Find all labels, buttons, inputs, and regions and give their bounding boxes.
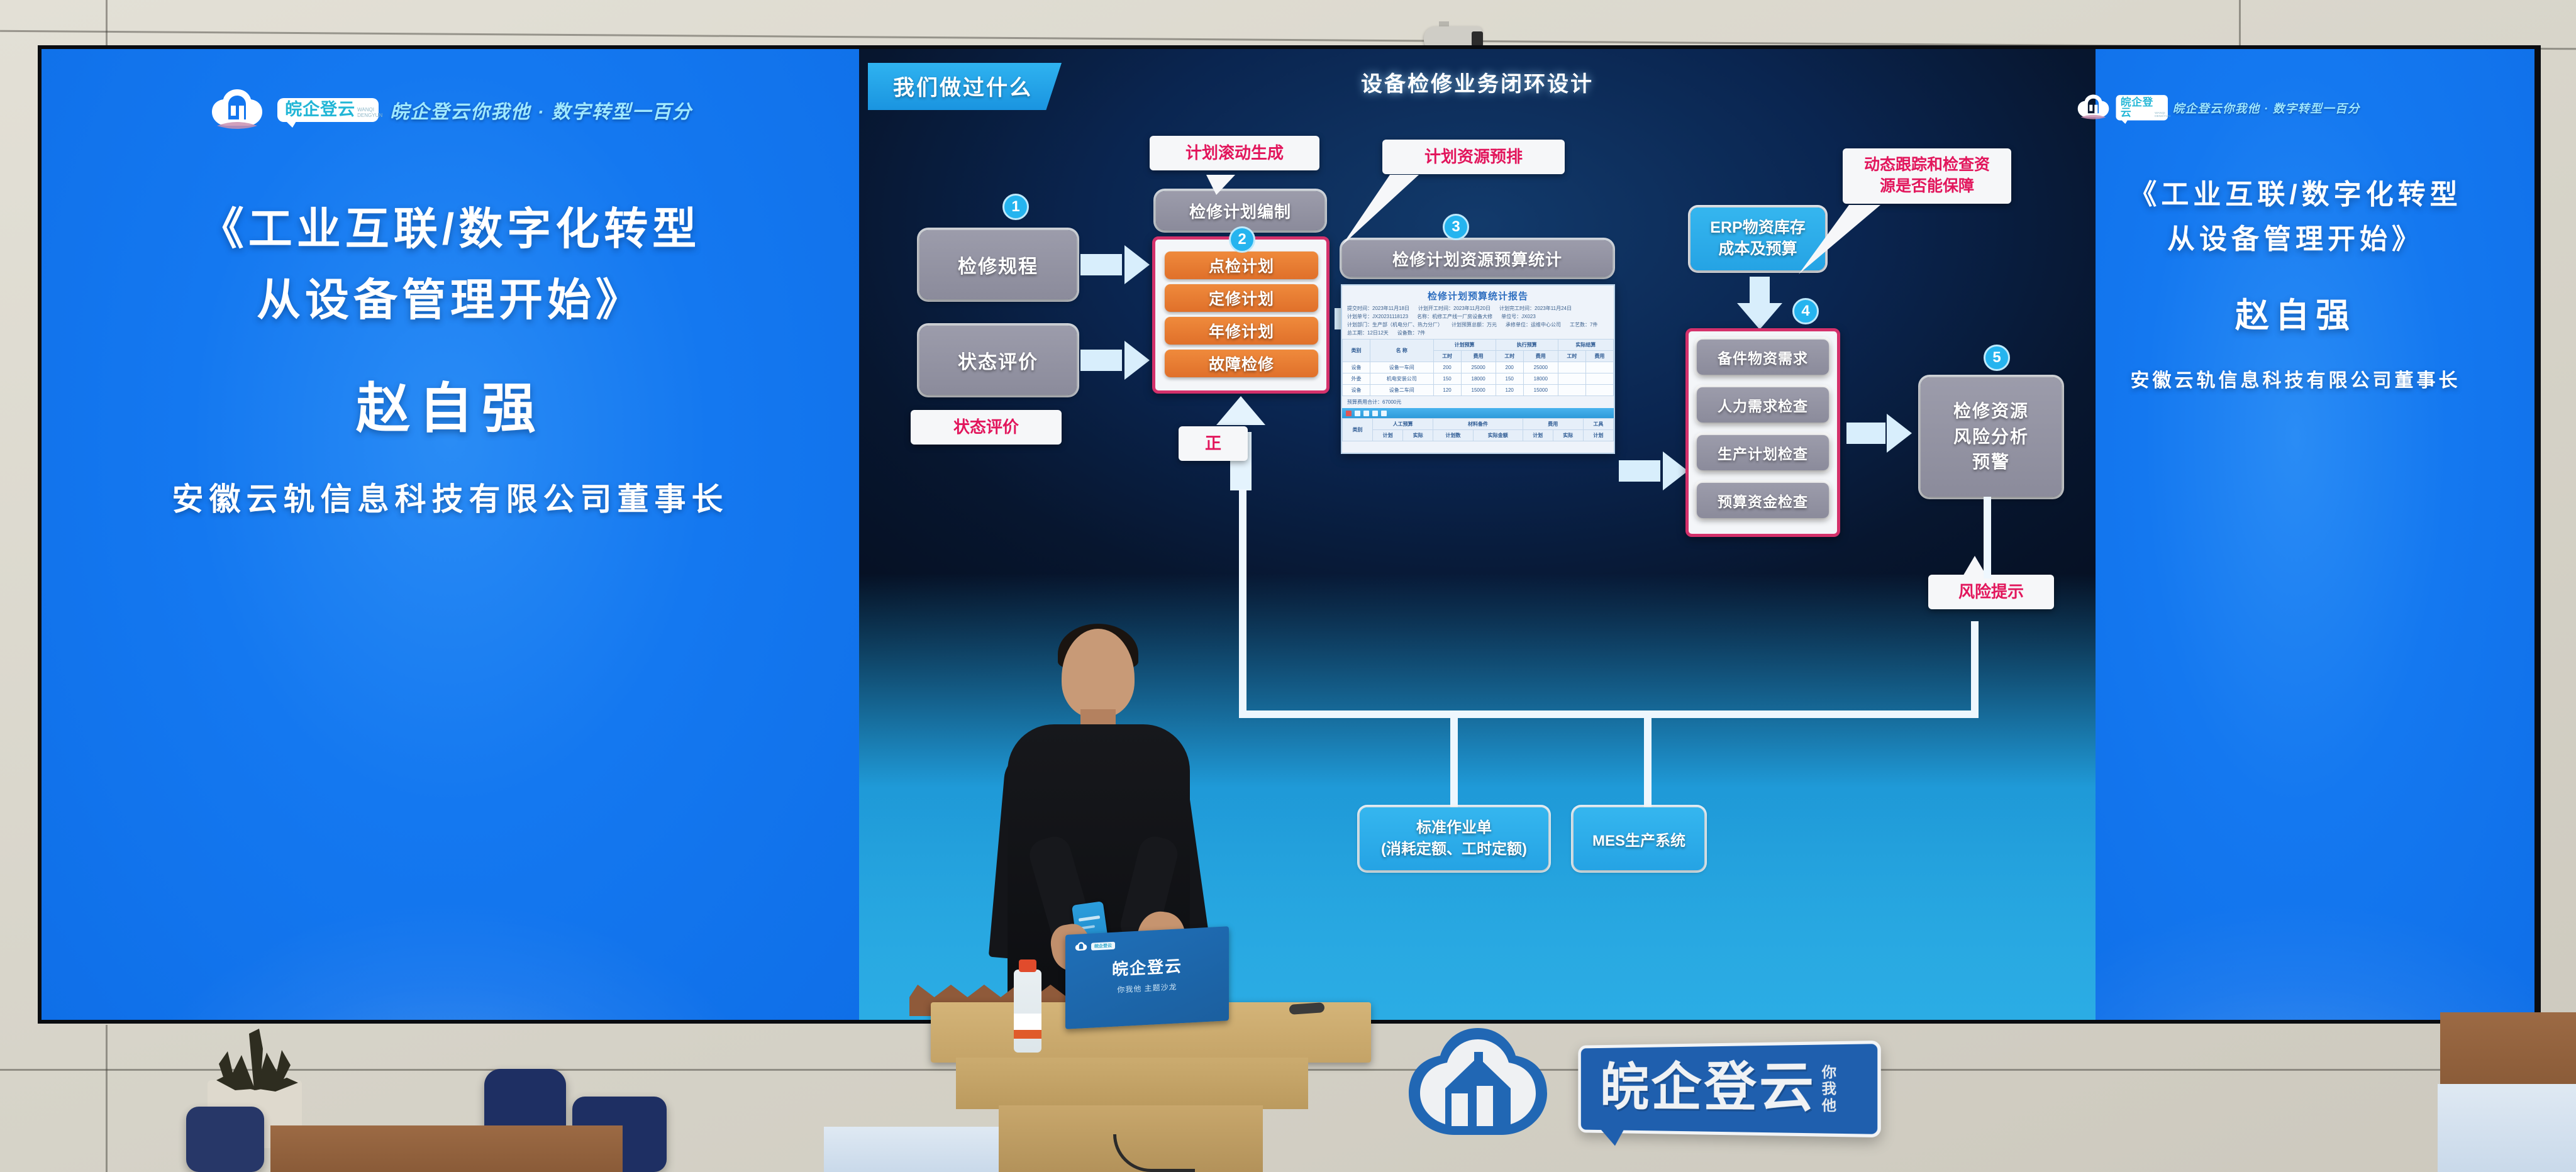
right-panel-title-line1: 《工业互联/数字化转型 [2129, 172, 2462, 217]
sop-line-2: (消耗定额、工时定额) [1381, 839, 1527, 860]
cell-v4: 25000 [1523, 362, 1558, 373]
floor-sign-main-text: 皖企登云 [1600, 1062, 1816, 1114]
callout-status-eval: 状态评价 [911, 410, 1062, 445]
bottom-sub: 实际 [1553, 430, 1583, 441]
brand-badge: 皖企登云 WANQI DENGYUN [2116, 95, 2168, 120]
cell-name: 机电安装公司 [1370, 373, 1433, 385]
node-check-0: 备件物资需求 [1697, 340, 1829, 375]
group-plan-budget: 计划预算 [1433, 340, 1496, 351]
bottom-sub: 实际金额 [1473, 430, 1523, 441]
brand-badge: 皖企登云 WANQI DENGYUN [277, 98, 379, 122]
node-check-1: 人力需求检查 [1697, 387, 1829, 423]
table-row: 设备 设备一车间 200 25000 200 25000 [1343, 362, 1614, 373]
cell-blank [1585, 373, 1613, 385]
node-mes-system: MES生产系统 [1574, 807, 1704, 870]
connector-loop-up [1239, 489, 1246, 716]
node-plan-type-0: 点检计划 [1165, 252, 1318, 279]
cell-blank [1585, 362, 1613, 373]
arrow-checks-to-risk [1846, 414, 1912, 453]
brand-badge-subtext: WANQI DENGYUN [357, 108, 371, 118]
toolbar-icon-d[interactable] [1381, 411, 1387, 416]
cloud-logo-icon [2075, 93, 2111, 122]
group-exec-budget: 执行预算 [1496, 340, 1558, 351]
node-plan-type-1: 定修计划 [1165, 284, 1318, 312]
podium-middle [956, 1058, 1308, 1109]
card-title: 皖企登云 [1112, 953, 1182, 980]
report-toolbar[interactable] [1342, 408, 1614, 418]
erp-line-1: ERP物资库存 [1710, 218, 1805, 239]
report-title: 检修计划预算统计报告 [1342, 285, 1614, 305]
callout-resource-schedule-tail [1337, 175, 1463, 250]
callout-dynamic-tracking-line2: 源是否能保障 [1854, 176, 2000, 197]
potted-plant [201, 1020, 308, 1093]
arrow-budget-to-checks [1619, 451, 1688, 490]
right-panel-title-line2: 从设备管理开始》 [2167, 217, 2424, 262]
cloud-logo-icon [208, 87, 266, 133]
floor-sign-sub-3: 他 [1822, 1097, 1836, 1114]
cell-type: 设备 [1343, 362, 1370, 373]
floor-sign-sub-1: 你 [1822, 1064, 1836, 1080]
node-standard-work-order: 标准作业单 (消耗定额、工时定额) [1360, 807, 1548, 870]
step-number-4: 4 [1792, 298, 1819, 324]
wall-tile-seam [106, 0, 108, 45]
toolbar-icon-close[interactable] [1346, 411, 1352, 416]
brand-badge-text: 皖企登云 [2121, 97, 2153, 118]
cell-blank [1558, 362, 1585, 373]
cell-name: 设备一车间 [1370, 362, 1433, 373]
right-display-panel: 皖企登云 WANQI DENGYUN 皖企登云你我他 · 数字转型一百分 《工业… [2057, 49, 2534, 1020]
sub-cost: 费用 [1523, 351, 1558, 362]
brand-lockup: 皖企登云 WANQI DENGYUN 皖企登云你我他 · 数字转型一百分 [208, 87, 692, 133]
bottom-sub: 计划 [1373, 430, 1403, 441]
connector-sop [1450, 710, 1458, 811]
cell-v3: 120 [1496, 385, 1523, 396]
report-meta-item: 承修单位：运维中心公司 [1506, 321, 1561, 328]
report-table: 类别 名 称 计划预算 执行预算 实际结算 工时 费用 工时 费用 工时 费用 … [1342, 339, 1614, 396]
conference-room-scene: 皖企登云 WANQI DENGYUN 皖企登云你我他 · 数字转型一百分 《工业… [0, 0, 2576, 1172]
report-meta-item: 单位号：JX023 [1501, 313, 1536, 320]
chair [186, 1107, 264, 1172]
node-plan-compile: 检修计划编制 [1156, 191, 1324, 230]
bottom-group-labor: 人工预算 [1373, 419, 1433, 430]
floor-sign-sub-2: 我 [1822, 1081, 1836, 1097]
col-category: 类别 [1343, 419, 1373, 441]
desk [270, 1125, 623, 1172]
embedded-report-screenshot: 检修计划预算统计报告 提交时间：2023年11月18日 计划开工时间：2023年… [1341, 284, 1615, 454]
sop-line-1: 标准作业单 [1416, 817, 1492, 839]
connector-risk-vertical [1984, 497, 1991, 578]
bottom-sub: 计划数 [1433, 430, 1473, 441]
floor-sign-plate: 皖企登云 你 我 他 [1578, 1041, 1880, 1137]
brand-tagline: 皖企登云你我他 · 数字转型一百分 [390, 96, 692, 124]
report-footer: 预算费用合计：67000元 [1342, 396, 1614, 408]
callout-risk-hint: 风险提示 [1928, 575, 2054, 609]
card-subtitle: 你我他 主题沙龙 [1117, 981, 1177, 995]
report-meta-item: 计划部门：生产部（机电分厂、热力分厂） [1347, 321, 1443, 328]
sub-hours: 工时 [1558, 351, 1585, 362]
left-panel-title-line2: 从设备管理开始》 [257, 265, 644, 336]
bottom-sub: 计划 [1523, 430, 1553, 441]
node-check-3: 预算资金检查 [1697, 483, 1829, 518]
risk-line-3: 预警 [1972, 450, 2010, 475]
cell-v3: 200 [1496, 362, 1523, 373]
callout-rolling-plan: 计划滚动生成 [1150, 136, 1319, 170]
bottom-sub: 计划 [1583, 430, 1613, 441]
cloud-logo-icon [1074, 941, 1088, 953]
sub-cost: 费用 [1585, 351, 1613, 362]
brand-badge-subtext: WANQI DENGYUN [2155, 111, 2163, 118]
report-meta-item: 名称：机修工产线一厂房设备大修 [1417, 313, 1492, 320]
erp-line-2: 成本及预算 [1718, 239, 1797, 260]
left-panel-title-line1: 《工业互联/数字化转型 [200, 194, 701, 265]
podium: 皖企登云 皖企登云 你我他 主题沙龙 [931, 976, 1371, 1172]
bottom-sub: 实际 [1403, 430, 1433, 441]
desk [2440, 1012, 2576, 1088]
connector-loop-horizontal [1239, 710, 1979, 718]
left-panel-speaker-name: 赵自强 [356, 364, 545, 443]
cell-type: 外委 [1343, 373, 1370, 385]
wall-tile-seam [106, 1025, 108, 1172]
report-meta-item: 计划完工时间：2023年11月24日 [1499, 305, 1572, 312]
callout-dynamic-tracking-line1: 动态跟踪和检查资 [1854, 155, 2000, 176]
arrow-erp-to-checks [1737, 277, 1782, 329]
cell-name: 设备二车间 [1370, 385, 1433, 396]
arrow-spec-to-plans [1080, 245, 1150, 284]
sub-cost: 费用 [1461, 351, 1496, 362]
cell-blank [1585, 385, 1613, 396]
cell-blank [1558, 373, 1585, 385]
podium-name-card: 皖企登云 皖企登云 你我他 主题沙龙 [1065, 926, 1229, 1029]
wall-tile-seam [2239, 0, 2241, 45]
report-meta-item: 提交时间：2023年11月18日 [1347, 305, 1409, 312]
cell-type: 设备 [1343, 385, 1370, 396]
node-check-2: 生产计划检查 [1697, 435, 1829, 470]
table-header-row: 类别 名 称 计划预算 执行预算 实际结算 [1343, 340, 1614, 351]
report-meta-item: 总工期：12日12天 [1347, 329, 1389, 336]
bottom-group-tool: 工具 [1583, 419, 1613, 430]
callout-partial: 正 [1179, 426, 1248, 461]
cell-blank [1558, 385, 1585, 396]
toolbar-icon-a[interactable] [1355, 411, 1360, 416]
right-panel-speaker-name: 赵自强 [2235, 287, 2356, 337]
cell-v3: 150 [1496, 373, 1523, 385]
cell-v4: 15000 [1523, 385, 1558, 396]
report-meta-item: 设备数：7件 [1397, 329, 1425, 336]
water-bottle [1014, 970, 1041, 1053]
table-row: 外委 机电安装公司 150 18000 150 18000 [1343, 373, 1614, 385]
callout-rolling-plan-tail [1206, 175, 1235, 195]
step-number-1: 1 [1002, 194, 1029, 220]
cell-v1: 150 [1433, 373, 1461, 385]
node-plan-type-2: 年修计划 [1165, 317, 1318, 345]
right-panel-speaker-org: 安徽云轨信息科技有限公司董事长 [2131, 365, 2461, 392]
report-meta-item: 计划开工时间：2023年11月20日 [1418, 305, 1491, 312]
risk-line-2: 风险分析 [1953, 424, 2029, 450]
connector-loop-down [1971, 621, 1979, 718]
node-inspection-spec: 检修规程 [919, 230, 1077, 299]
brand-lockup-right: 皖企登云 WANQI DENGYUN 皖企登云你我他 · 数字转型一百分 [2075, 93, 2360, 122]
brand-badge-text: 皖企登云 [285, 101, 355, 118]
report-table-secondary: 类别 人工预算 材料备件 费用 工具 计划 实际 计划数 实际金额 计划 实际 … [1342, 418, 1614, 441]
step-number-2: 2 [1229, 226, 1255, 253]
callout-dynamic-tracking: 动态跟踪和检查资 源是否能保障 [1843, 148, 2011, 204]
sub-hours: 工时 [1496, 351, 1523, 362]
cell-v4: 18000 [1523, 373, 1558, 385]
card-brand-badge: 皖企登云 [1091, 941, 1115, 950]
left-panel-speaker-org: 安徽云轨信息科技有限公司董事长 [172, 474, 729, 519]
floor-sign-sub-text: 你 我 他 [1822, 1064, 1854, 1114]
cell-v2: 18000 [1461, 373, 1496, 385]
report-meta-item: 工艺数：7件 [1570, 321, 1597, 328]
arrow-eval-to-plans [1080, 341, 1150, 380]
cell-v2: 15000 [1461, 385, 1496, 396]
node-risk-analysis: 检修资源 风险分析 预警 [1921, 377, 2062, 497]
callout-dynamic-tracking-tail [1795, 205, 1933, 280]
bottom-group-material: 材料备件 [1433, 419, 1523, 430]
col-type: 类别 [1343, 340, 1370, 362]
bottom-group-fee: 费用 [1523, 419, 1583, 430]
brand-tagline: 皖企登云你我他 · 数字转型一百分 [2173, 99, 2360, 116]
report-meta-item: 计划单号：JX20231118123 [1347, 313, 1408, 320]
left-display-panel: 皖企登云 WANQI DENGYUN 皖企登云你我他 · 数字转型一百分 《工业… [42, 49, 859, 1020]
col-name: 名 称 [1370, 340, 1433, 362]
floor-standing-sign: 皖企登云 你 我 他 [1402, 1006, 2069, 1172]
toolbar-icon-b[interactable] [1363, 411, 1369, 416]
connector-mes [1644, 710, 1652, 811]
node-status-eval: 状态评价 [919, 326, 1077, 395]
step-number-3: 3 [1443, 214, 1469, 240]
cloud-logo-icon [1402, 1023, 1553, 1155]
group-actual-budget: 实际结算 [1558, 340, 1613, 351]
table-header-row: 类别 人工预算 材料备件 费用 工具 [1343, 419, 1614, 430]
sub-hours: 工时 [1433, 351, 1461, 362]
desk-panel [2438, 1084, 2576, 1172]
card-brand-row: 皖企登云 [1074, 940, 1115, 953]
slide-title: 设备检修业务闭环设计 [859, 67, 2096, 97]
toolbar-icon-c[interactable] [1372, 411, 1378, 416]
cell-v1: 200 [1433, 362, 1461, 373]
risk-line-1: 检修资源 [1953, 399, 2029, 424]
cell-v1: 120 [1433, 385, 1461, 396]
cell-v2: 25000 [1461, 362, 1496, 373]
node-plan-type-3: 故障检修 [1165, 350, 1318, 377]
report-meta: 提交时间：2023年11月18日 计划开工时间：2023年11月20日 计划完工… [1342, 305, 1614, 339]
callout-resource-schedule: 计划资源预排 [1382, 140, 1565, 174]
table-row: 设备 设备二车间 120 15000 120 15000 [1343, 385, 1614, 396]
step-number-5: 5 [1984, 345, 2010, 371]
report-meta-item: 计划预算总额：万元 [1452, 321, 1497, 328]
table-subheader-row: 计划 实际 计划数 实际金额 计划 实际 计划 [1343, 430, 1614, 441]
